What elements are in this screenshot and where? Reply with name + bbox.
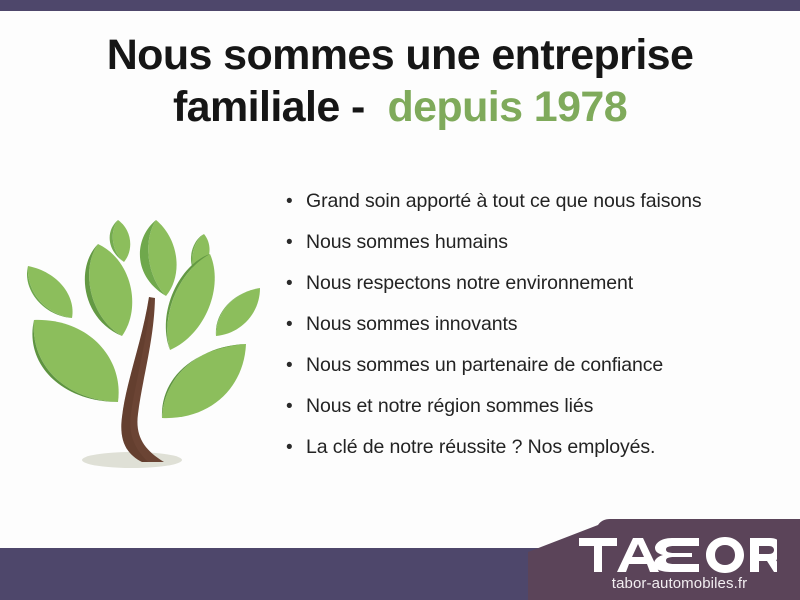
list-item: • Grand soin apporté à tout ce que nous … [286, 190, 756, 231]
title-accent: depuis 1978 [387, 83, 627, 131]
list-item: • La clé de notre réussite ? Nos employé… [286, 436, 756, 477]
top-accent-bar [0, 0, 800, 11]
list-item-label: Nous et notre région sommes liés [306, 395, 756, 418]
bullet-marker-icon: • [286, 438, 306, 457]
slide-canvas: Nous sommes une entreprise familiale - d… [0, 0, 800, 600]
brand-logo[interactable]: tabor-automobiles.fr [577, 536, 782, 592]
list-item-label: Nous sommes innovants [306, 313, 756, 336]
list-item-label: Nous sommes humains [306, 231, 756, 254]
list-item: • Nous sommes innovants [286, 313, 756, 354]
list-item: • Nous et notre région sommes liés [286, 395, 756, 436]
page-title: Nous sommes une entreprise familiale - d… [0, 34, 800, 129]
bullet-list: • Grand soin apporté à tout ce que nous … [286, 190, 756, 477]
list-item-label: Grand soin apporté à tout ce que nous fa… [306, 190, 756, 213]
leaf-lower-left-icon [32, 320, 118, 402]
title-spacer [365, 83, 388, 131]
leaf-far-right-icon [216, 288, 260, 336]
list-item: • Nous sommes humains [286, 231, 756, 272]
leaf-far-left-icon [27, 266, 73, 318]
tabor-wordmark-icon [577, 536, 777, 574]
title-line-2-plain: familiale [173, 83, 340, 131]
bullet-marker-icon: • [286, 397, 306, 416]
leaf-top-center-icon [140, 220, 177, 296]
title-dash-glyph: - [351, 83, 365, 131]
bullet-marker-icon: • [286, 233, 306, 252]
title-line-1: Nous sommes une entreprise [0, 34, 800, 77]
list-item: • Nous sommes un partenaire de confiance [286, 354, 756, 395]
list-item-label: Nous respectons notre environnement [306, 272, 756, 295]
tree-illustration [14, 192, 276, 488]
logo-tagline: tabor-automobiles.fr [577, 575, 782, 592]
bullet-marker-icon: • [286, 356, 306, 375]
tree-illustration-svg [14, 192, 276, 488]
title-line-2: familiale - depuis 1978 [0, 86, 800, 129]
leaf-lower-right-icon [162, 344, 246, 418]
list-item: • Nous respectons notre environnement [286, 272, 756, 313]
bullet-marker-icon: • [286, 192, 306, 211]
list-item-label: La clé de notre réussite ? Nos employés. [306, 436, 756, 459]
title-dash [340, 83, 351, 131]
bullet-marker-icon: • [286, 274, 306, 293]
bullet-marker-icon: • [286, 315, 306, 334]
list-item-label: Nous sommes un partenaire de confiance [306, 354, 756, 377]
